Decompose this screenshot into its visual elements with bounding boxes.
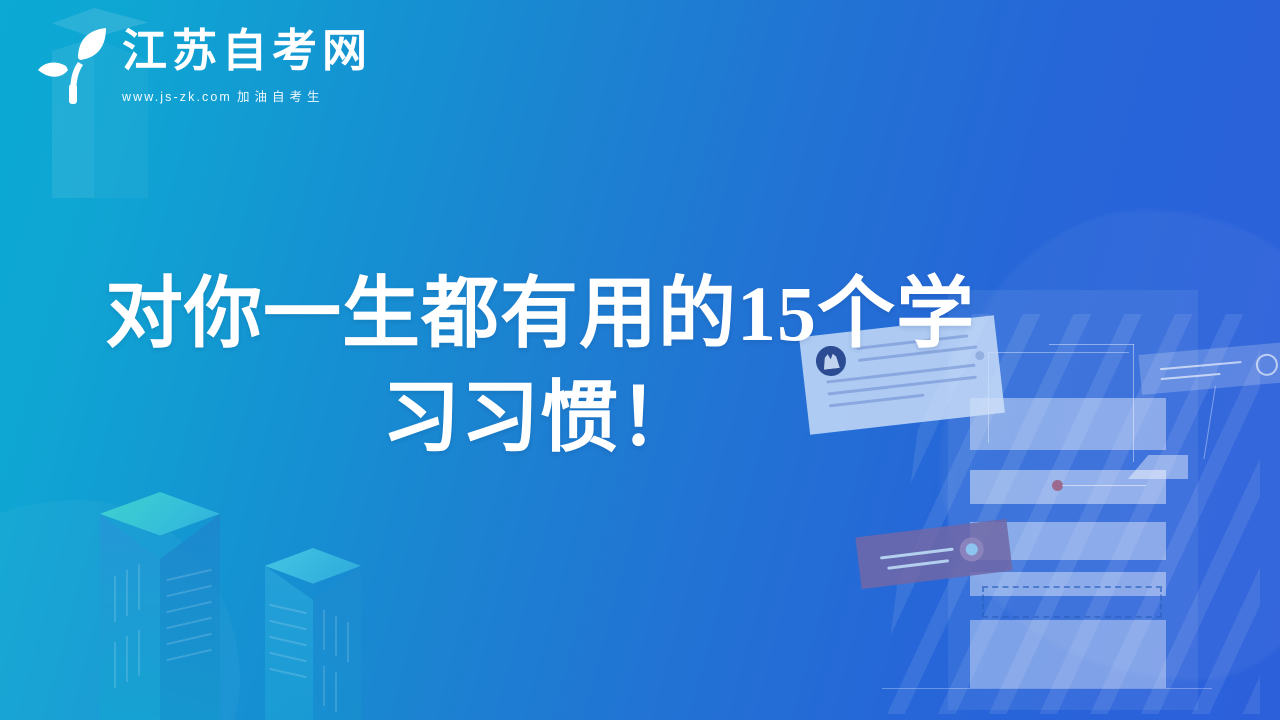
- illustration-dot-connector: [1062, 485, 1146, 486]
- illustration-content-bar: [970, 620, 1166, 688]
- logo-subtitle: www.js-zk.com加油自考生: [122, 86, 372, 105]
- decor-building-small: [265, 548, 361, 720]
- building-face-left: [265, 566, 313, 720]
- page-title: 对你一生都有用的15个学 习习惯！: [0, 262, 1080, 469]
- purple-card-dot-icon: [958, 536, 985, 563]
- decor-building-large: [100, 492, 220, 720]
- logo-slogan: 加油自考生: [237, 90, 325, 104]
- sprout-leaf-icon: [30, 22, 116, 110]
- building-window-lines: [265, 566, 313, 720]
- illustration-baseline: [882, 688, 1212, 689]
- site-logo[interactable]: 江苏自考网 www.js-zk.com加油自考生: [30, 22, 372, 110]
- building-face-right: [313, 566, 361, 720]
- illustration-content-bar: [970, 470, 1166, 504]
- mini-card-ring-icon: [1255, 353, 1279, 377]
- building-face-left: [100, 514, 160, 720]
- illustration-dashed-box: [982, 586, 1162, 618]
- poster-canvas: 江苏自考网 www.js-zk.com加油自考生 对你一生都有用的15个学 习习…: [0, 0, 1280, 720]
- building-face-right: [160, 514, 220, 720]
- building-window-lines: [160, 514, 220, 720]
- logo-title: 江苏自考网: [122, 28, 372, 73]
- logo-url: www.js-zk.com: [122, 90, 232, 104]
